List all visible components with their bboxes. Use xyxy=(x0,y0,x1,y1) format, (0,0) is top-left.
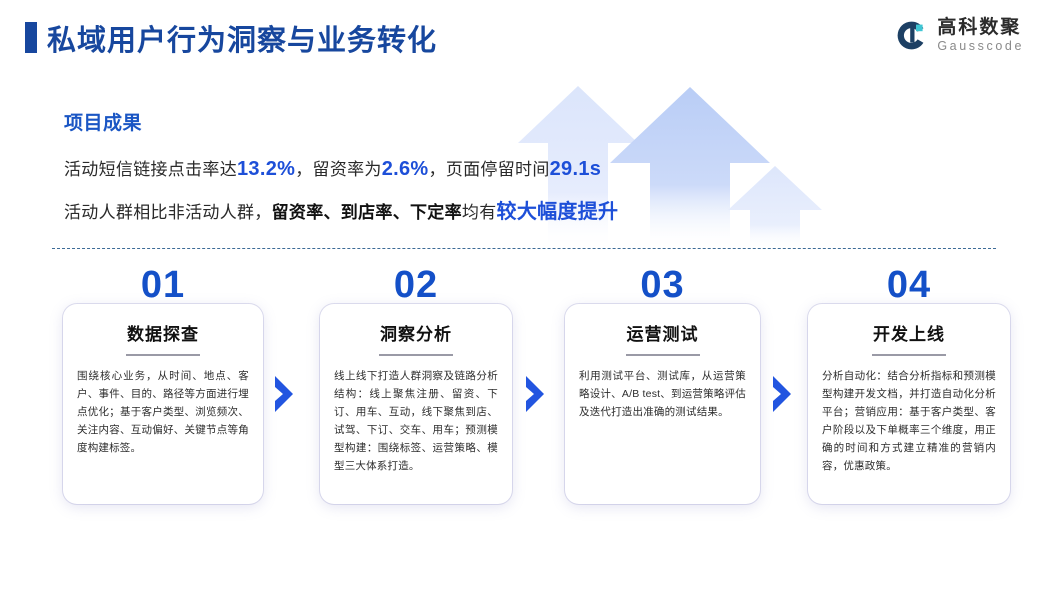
step-title-3: 运营测试 xyxy=(579,320,746,345)
step-rule-1 xyxy=(126,354,200,356)
project-results-block: 项目成果 活动短信链接点击率达13.2%，留资率为2.6%，页面停留时间29.1… xyxy=(64,108,764,243)
step-title-4: 开发上线 xyxy=(822,320,996,345)
chevron-right-icon xyxy=(770,374,796,414)
step-number-3: 03 xyxy=(565,266,760,304)
step-rule-2 xyxy=(379,354,453,356)
title-accent-bar xyxy=(25,22,37,53)
gausscode-logo-icon xyxy=(895,19,928,52)
chevron-right-icon xyxy=(272,374,298,414)
page-title: 私域用户行为洞察与业务转化 xyxy=(47,17,437,59)
process-step-4[interactable]: 04 开发上线 分析自动化：结合分析指标和预测模型构建开发文档，并打造自动化分析… xyxy=(808,304,1010,504)
step-title-1: 数据探查 xyxy=(77,320,249,345)
step-body-3: 利用测试平台、测试库，从运营策略设计、A/B test、到运营策略评估及迭代打造… xyxy=(579,367,746,421)
step-title-2: 洞察分析 xyxy=(334,320,498,345)
step-card-3[interactable]: 运营测试 利用测试平台、测试库，从运营策略设计、A/B test、到运营策略评估… xyxy=(565,304,760,504)
section-divider xyxy=(52,248,996,249)
results-line1-seg3: ，页面停留时间 xyxy=(429,160,550,179)
results-line1-seg2: ，留资率为 xyxy=(295,160,382,179)
step-card-1[interactable]: 数据探查 围绕核心业务，从时间、地点、客户、事件、目的、路径等方面进行埋点优化；… xyxy=(63,304,263,504)
step-body-2: 线上线下打造人群洞察及链路分析结构：线上聚焦注册、留资、下订、用车、互动，线下聚… xyxy=(334,367,498,475)
process-step-2[interactable]: 02 洞察分析 线上线下打造人群洞察及链路分析结构：线上聚焦注册、留资、下订、用… xyxy=(320,304,512,504)
results-line2-seg1: 活动人群相比非活动人群， xyxy=(64,203,272,222)
step-card-2[interactable]: 洞察分析 线上线下打造人群洞察及链路分析结构：线上聚焦注册、留资、下订、用车、互… xyxy=(320,304,512,504)
step-rule-4 xyxy=(872,354,946,356)
step-rule-3 xyxy=(626,354,700,356)
results-line1-seg1: 活动短信链接点击率达 xyxy=(64,160,237,179)
dwell-time-value: 29.1s xyxy=(550,158,602,180)
results-line2-highlight: 较大幅度提升 xyxy=(497,201,619,223)
step-card-4[interactable]: 开发上线 分析自动化：结合分析指标和预测模型构建开发文档，并打造自动化分析平台；… xyxy=(808,304,1010,504)
ctr-value: 13.2% xyxy=(237,158,295,180)
step-number-4: 04 xyxy=(808,266,1010,304)
results-line2-bold: 留资率、到店率、下定率 xyxy=(272,203,462,222)
results-heading: 项目成果 xyxy=(64,108,764,135)
header: 私域用户行为洞察与业务转化 高科数聚 Gausscode xyxy=(0,0,1048,78)
process-step-1[interactable]: 01 数据探查 围绕核心业务，从时间、地点、客户、事件、目的、路径等方面进行埋点… xyxy=(63,304,263,504)
process-steps: 01 数据探查 围绕核心业务，从时间、地点、客户、事件、目的、路径等方面进行埋点… xyxy=(0,268,1048,528)
chevron-right-icon xyxy=(523,374,549,414)
results-line-1: 活动短信链接点击率达13.2%，留资率为2.6%，页面停留时间29.1s xyxy=(64,157,764,181)
process-step-3[interactable]: 03 运营测试 利用测试平台、测试库，从运营策略设计、A/B test、到运营策… xyxy=(565,304,760,504)
logo-name-en: Gausscode xyxy=(937,40,1024,53)
brand-logo: 高科数聚 Gausscode xyxy=(895,18,1024,53)
step-body-4: 分析自动化：结合分析指标和预测模型构建开发文档，并打造自动化分析平台；营销应用：… xyxy=(822,367,996,475)
results-line2-seg2: 均有 xyxy=(462,203,497,222)
step-body-1: 围绕核心业务，从时间、地点、客户、事件、目的、路径等方面进行埋点优化；基于客户类… xyxy=(77,367,249,457)
step-number-2: 02 xyxy=(320,266,512,304)
step-number-1: 01 xyxy=(63,266,263,304)
lead-rate-value: 2.6% xyxy=(382,158,429,180)
results-line-2: 活动人群相比非活动人群，留资率、到店率、下定率均有较大幅度提升 xyxy=(64,200,764,224)
slide-root: 私域用户行为洞察与业务转化 高科数聚 Gausscode 项目成果 活动短信链接… xyxy=(0,0,1048,591)
logo-name-cn: 高科数聚 xyxy=(937,18,1024,37)
